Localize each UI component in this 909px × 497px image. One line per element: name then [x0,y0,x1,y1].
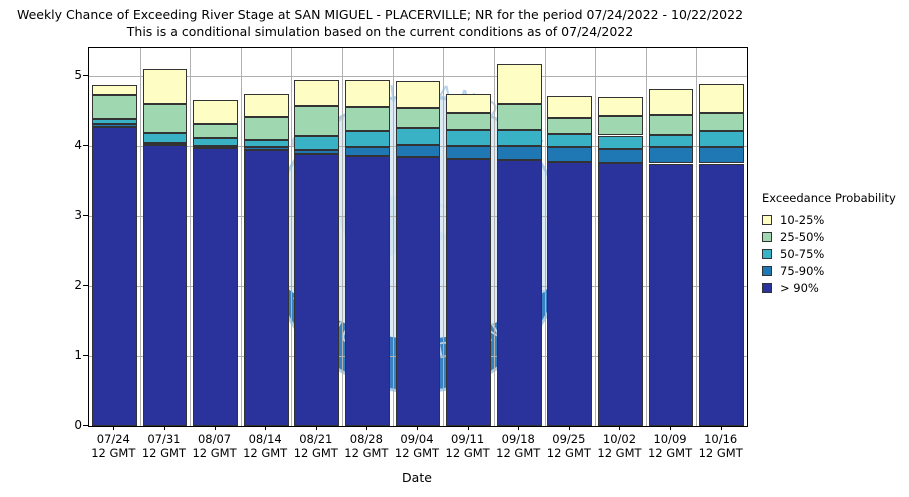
chart-title-block: Weekly Chance of Exceeding River Stage a… [0,6,760,40]
x-tick-label: 10/1612 GMT [686,433,756,460]
y-tick-label: 1 [42,349,82,361]
chart-title: Weekly Chance of Exceeding River Stage a… [0,6,760,23]
bar-segment [446,94,491,113]
stacked-bar [649,48,694,426]
bar-segment [547,96,592,118]
bar-segment [396,157,441,426]
bar-segment [497,160,542,426]
bar-segment [294,80,339,106]
legend-item[interactable]: 25-50% [762,228,907,245]
chart-page: Weekly Chance of Exceeding River Stage a… [0,0,909,497]
stacked-bar [294,48,339,426]
x-tick-date: 10/16 [686,433,756,447]
bar-segment [497,146,542,160]
bar-segment [598,136,643,149]
bar-segment [497,64,542,104]
bar-segment [547,162,592,426]
bar-segment [396,145,441,158]
gridline-vertical [241,48,242,426]
bar-segment [396,128,441,145]
legend-title: Exceedance Probability [762,191,907,205]
legend-item-label: > 90% [780,281,819,295]
bar-segment [92,119,137,125]
stacked-bar [345,48,390,426]
bar-segment [396,81,441,108]
bar-segment [92,124,137,127]
stacked-bar [547,48,592,426]
stacked-bar [446,48,491,426]
bar-segment [294,150,339,154]
bar-segment [699,164,744,427]
gridline-vertical [291,48,292,426]
bar-segment [92,127,137,426]
y-tick-label: 4 [42,139,82,151]
gridline-vertical [696,48,697,426]
bar-segment [92,95,137,119]
bar-segment [244,94,289,117]
legend: Exceedance Probability 10-25%25-50%50-75… [762,191,907,296]
legend-item-label: 25-50% [780,230,824,244]
legend-item-label: 75-90% [780,264,824,278]
bar-segment [396,108,441,128]
bar-segment [294,136,339,150]
x-tick-time: 12 GMT [686,447,756,461]
gridline-vertical [190,48,191,426]
chart-subtitle: This is a conditional simulation based o… [0,23,760,40]
legend-item[interactable]: > 90% [762,279,907,296]
legend-item[interactable]: 50-75% [762,245,907,262]
legend-swatch-icon [762,283,772,293]
bar-segment [193,148,238,426]
bar-segment [497,104,542,130]
bar-segment [345,80,390,107]
bar-segment [193,100,238,124]
bar-segment [446,146,491,159]
bar-segment [699,131,744,146]
bar-segment [446,130,491,146]
legend-swatch-icon [762,266,772,276]
plot-area: OCEANIC AND ATMOSPHERIC NATIONAL ADMINIS… [88,47,748,427]
stacked-bar [244,48,289,426]
bar-segment [446,159,491,426]
bar-segment [699,147,744,164]
bar-segment [649,89,694,115]
gridline-vertical [545,48,546,426]
bar-segment [244,150,289,426]
bar-segment [143,104,188,133]
stacked-bar [699,48,744,426]
bar-segment [497,130,542,146]
y-tick-label: 5 [42,69,82,81]
bar-segment [294,106,339,136]
bar-segment [547,134,592,147]
x-axis-label: Date [88,470,746,485]
bar-segment [345,131,390,146]
legend-swatch-icon [762,232,772,242]
bar-segment [649,147,694,163]
bar-segment [699,113,744,131]
bar-segment [244,140,289,148]
stacked-bar [193,48,238,426]
gridline-vertical [393,48,394,426]
stacked-bar [598,48,643,426]
gridline-vertical [494,48,495,426]
y-tick-label: 0 [42,419,82,431]
bar-segment [193,124,238,138]
gridline-vertical [646,48,647,426]
bar-segment [92,85,137,95]
legend-swatch-icon [762,249,772,259]
legend-item-label: 10-25% [780,213,824,227]
gridline-vertical [595,48,596,426]
y-tick-label: 2 [42,279,82,291]
gridline-vertical [342,48,343,426]
bar-segment [143,143,188,145]
bar-segment [294,154,339,426]
bar-segment [547,118,592,134]
bar-segment [446,113,491,130]
bar-segment [143,145,188,426]
stacked-bar [396,48,441,426]
bar-segment [547,147,592,162]
bar-segment [649,135,694,148]
legend-swatch-icon [762,215,772,225]
bar-segment [345,107,390,132]
legend-item[interactable]: 10-25% [762,211,907,228]
y-tick-label: 3 [42,209,82,221]
bar-segment [649,115,694,135]
bar-segment [598,116,643,136]
bar-segment [598,149,643,163]
stacked-bar [92,48,137,426]
bar-segment [345,147,390,156]
legend-item-label: 50-75% [780,247,824,261]
bar-segment [598,97,643,116]
bar-segment [143,69,188,104]
bar-segment [345,156,390,426]
bar-segment [143,133,188,144]
bar-segment [699,84,744,113]
stacked-bar [497,48,542,426]
bar-segment [598,163,643,426]
bar-segment [244,117,289,140]
bar-segment [244,147,289,150]
stacked-bar [143,48,188,426]
gridline-vertical [140,48,141,426]
bar-segment [193,146,238,148]
legend-item[interactable]: 75-90% [762,262,907,279]
bar-segment [193,138,238,146]
bar-segment [649,164,694,427]
gridline-vertical [443,48,444,426]
